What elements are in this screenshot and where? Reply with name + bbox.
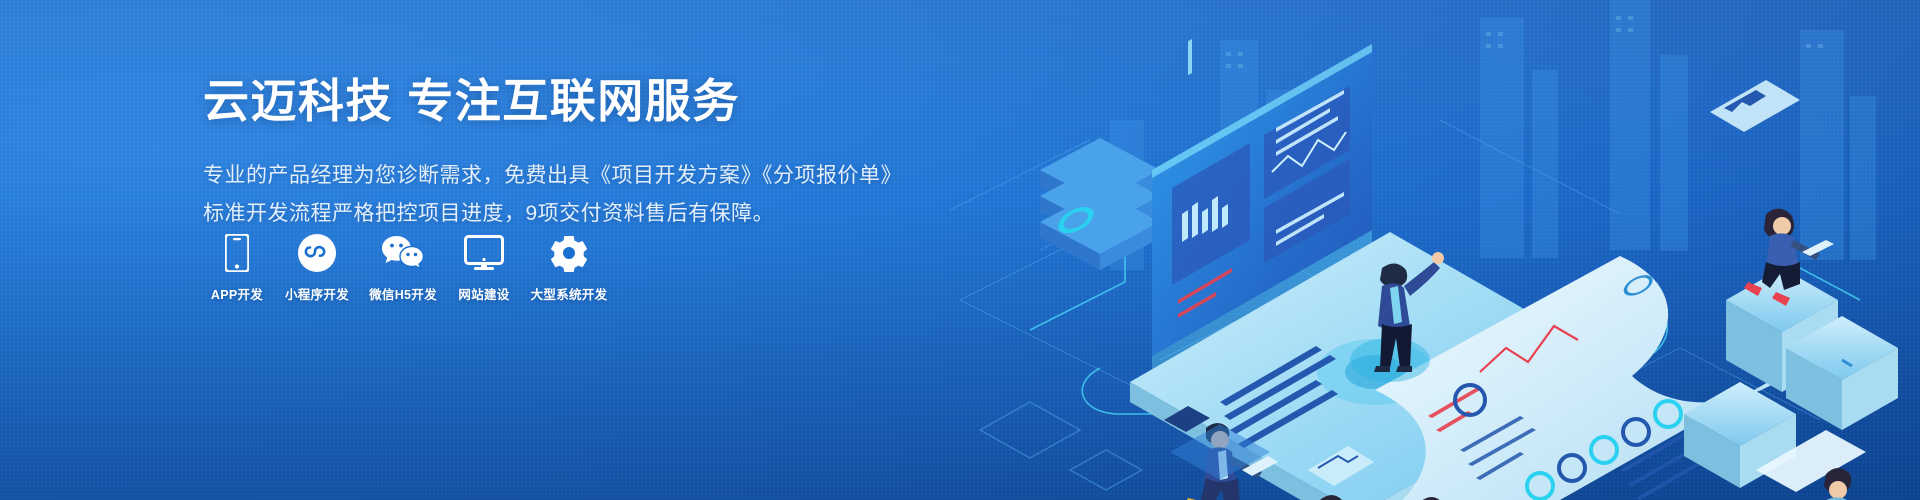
subtitle-line-2: 标准开发流程严格把控项目进度，9项交付资料售后有保障。 [203, 197, 903, 231]
service-label: APP开发 [211, 288, 263, 302]
service-item-app[interactable]: APP开发 [200, 232, 274, 302]
hero-banner: 云迈科技 专注互联网服务 专业的产品经理为您诊断需求，免费出具《项目开发方案》《… [0, 0, 1920, 500]
service-item-mini-program[interactable]: 小程序开发 [274, 232, 360, 302]
subtitle-line-1: 专业的产品经理为您诊断需求，免费出具《项目开发方案》《分项报价单》 [203, 159, 903, 193]
service-label: 网站建设 [458, 288, 509, 302]
monitor-icon [464, 232, 504, 274]
service-item-website[interactable]: 网站建设 [446, 232, 522, 302]
service-label: 小程序开发 [285, 288, 349, 302]
copy-block: 云迈科技 专注互联网服务 专业的产品经理为您诊断需求，免费出具《项目开发方案》《… [203, 73, 903, 231]
wechat-icon [381, 232, 425, 274]
illustration [920, 0, 1920, 500]
service-item-wechat-h5[interactable]: 微信H5开发 [360, 232, 446, 302]
service-list: APP开发 小程序开发 微信 [200, 232, 616, 302]
mini-program-icon [298, 232, 336, 274]
service-label: 微信H5开发 [369, 288, 437, 302]
gear-icon [550, 232, 588, 274]
service-label: 大型系统开发 [531, 288, 608, 302]
page-title: 云迈科技 专注互联网服务 [203, 73, 903, 129]
service-item-large-system[interactable]: 大型系统开发 [522, 232, 616, 302]
mobile-phone-icon [225, 232, 249, 274]
